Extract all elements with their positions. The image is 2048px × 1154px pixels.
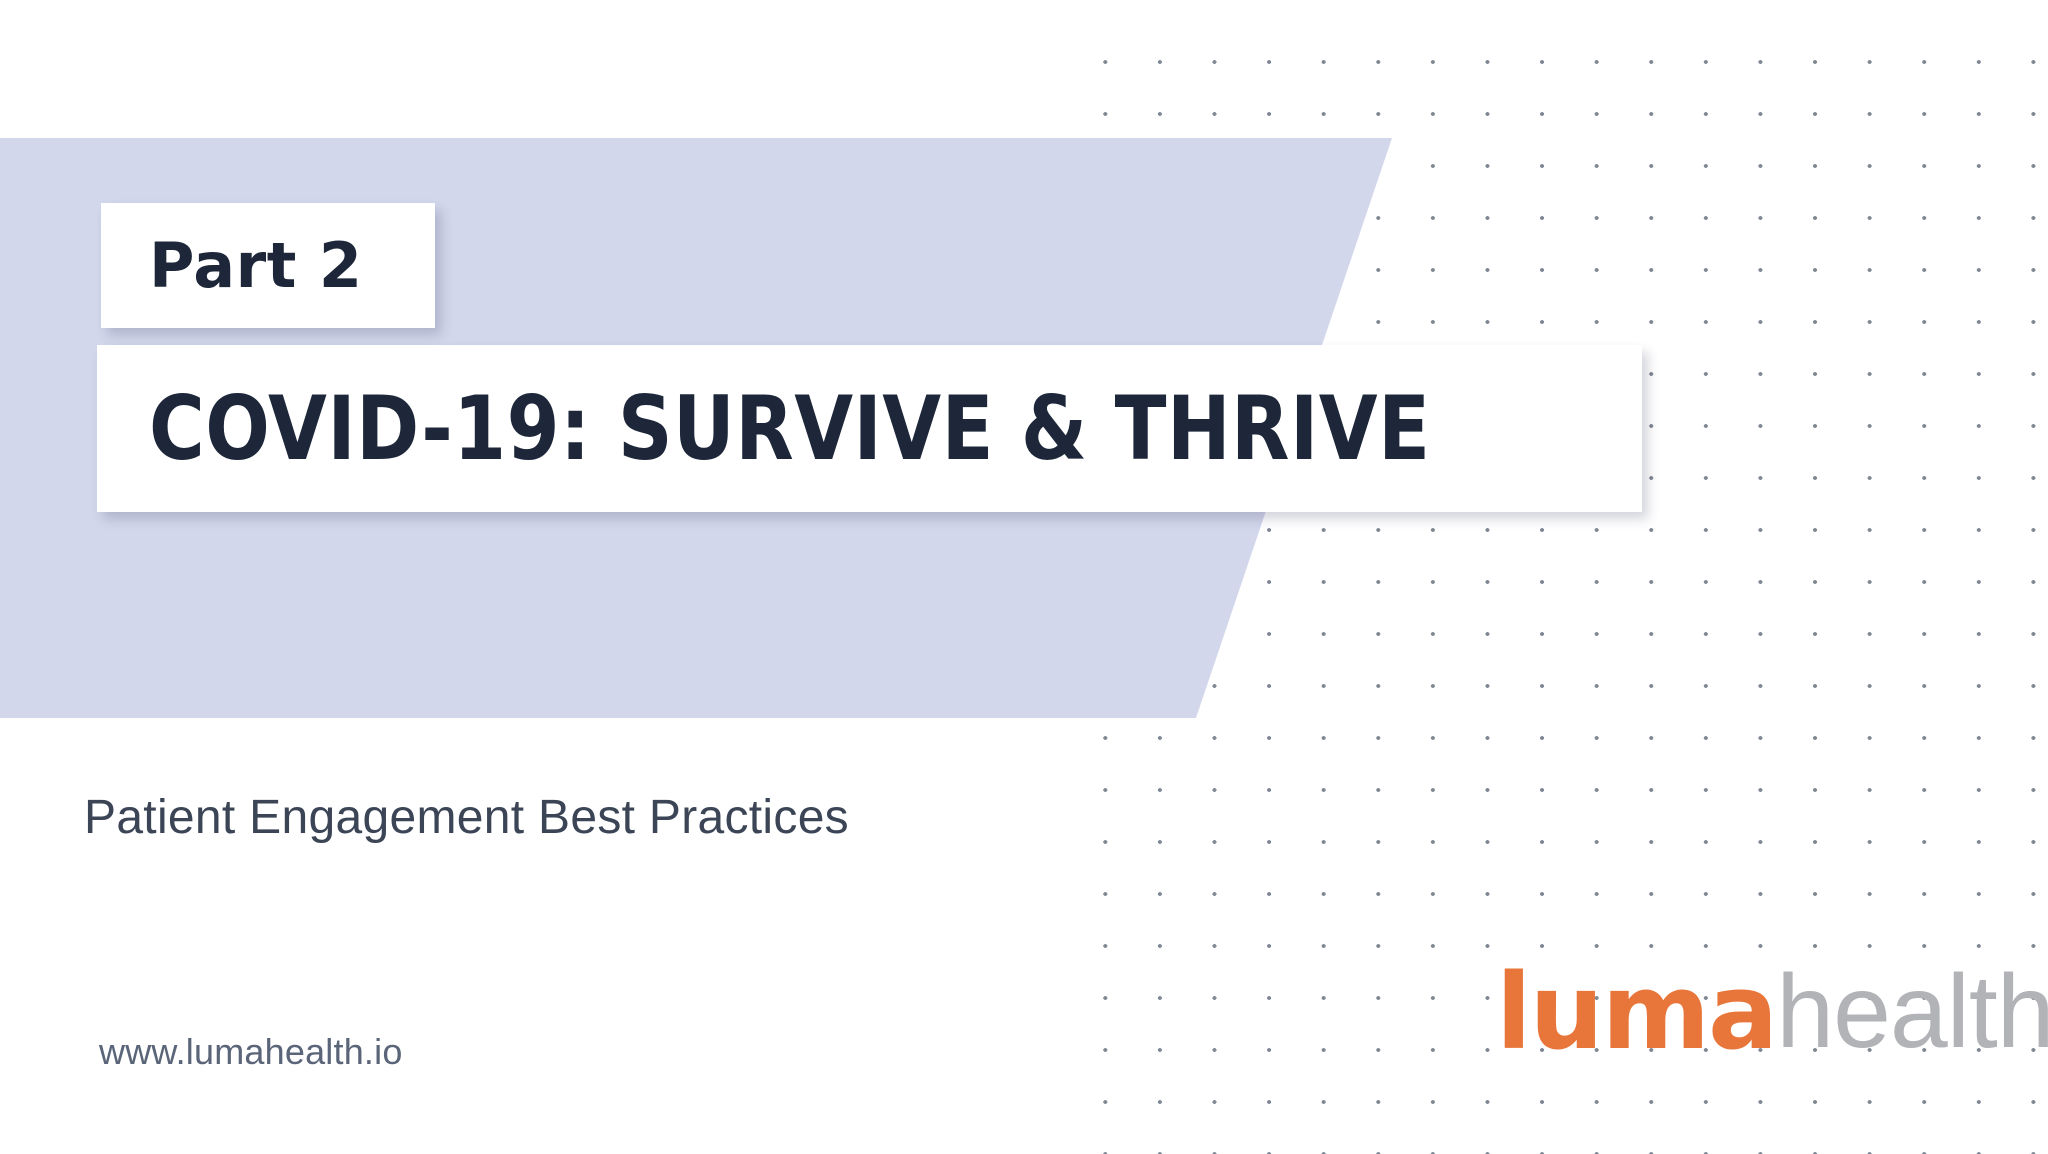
part-badge-label: Part 2 [149, 235, 363, 297]
website-url[interactable]: www.lumahealth.io [99, 1031, 403, 1073]
lumahealth-logo: luma health ™ [1496, 960, 2048, 1064]
logo-wordmark-secondary: health [1776, 960, 2048, 1064]
logo-wordmark-primary: luma [1496, 960, 1776, 1064]
presentation-slide: Part 2 COVID-19: SURVIVE & THRIVE Patien… [0, 0, 2048, 1154]
part-badge-card: Part 2 [101, 203, 435, 328]
slide-subtitle: Patient Engagement Best Practices [84, 790, 849, 845]
page-title: COVID-19: SURVIVE & THRIVE [149, 385, 1430, 473]
title-card: COVID-19: SURVIVE & THRIVE [97, 345, 1642, 512]
